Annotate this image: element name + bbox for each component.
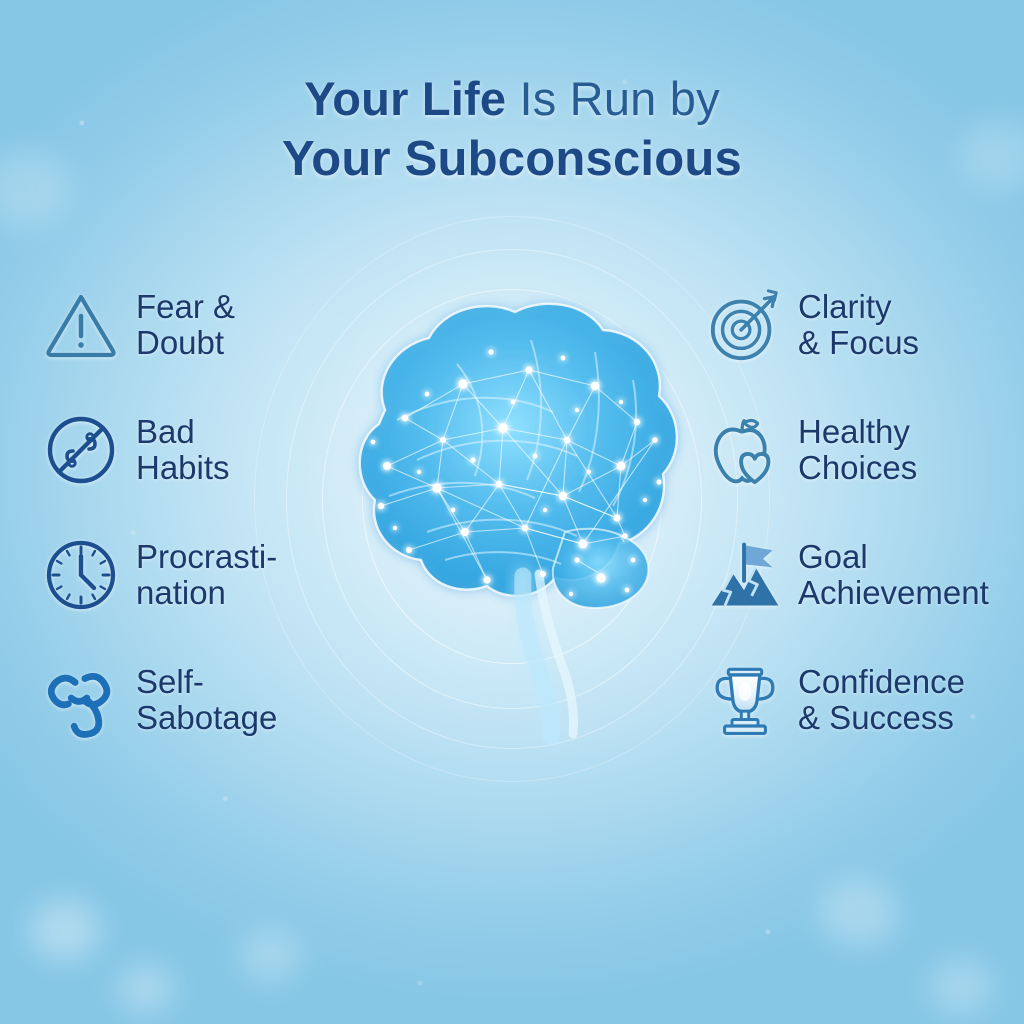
bokeh-spot (118, 965, 173, 1013)
negative-traits-column: Fear & Doubt Bad Habits (42, 262, 372, 762)
apple-heart-icon (706, 411, 784, 489)
list-item-clarity-focus[interactable]: Clarity & Focus (706, 262, 1024, 387)
mountain-flag-icon (706, 536, 784, 614)
title-line-2: Your Subconscious (0, 132, 1024, 188)
title-bold-segment: Your Life (304, 72, 506, 125)
title-light-segment: Is Run by (506, 72, 720, 125)
target-arrow-icon (706, 286, 784, 364)
infographic-poster: Your Life Is Run by Your Subconscious (0, 0, 1024, 1024)
bokeh-spot (30, 900, 100, 960)
warning-triangle-icon (42, 286, 120, 364)
list-item-fear-doubt[interactable]: Fear & Doubt (42, 262, 372, 387)
no-smoking-prohibition-icon (42, 411, 120, 489)
title-line-1: Your Life Is Run by (0, 72, 1024, 126)
list-item-self-sabotage[interactable]: Self- Sabotage (42, 637, 372, 762)
list-item-confidence-success[interactable]: Confidence & Success (706, 637, 1024, 762)
list-item-healthy-choices[interactable]: Healthy Choices (706, 387, 1024, 512)
clock-icon (42, 536, 120, 614)
broken-chain-icon (42, 661, 120, 739)
positive-outcomes-column: Clarity & Focus Healthy Choices (706, 262, 1024, 762)
list-item-goal-achievement[interactable]: Goal Achievement (706, 512, 1024, 637)
list-item-procrastination[interactable]: Procrasti- nation (42, 512, 372, 637)
bokeh-spot (930, 960, 992, 1014)
poster-title: Your Life Is Run by Your Subconscious (0, 72, 1024, 187)
list-item-label: Healthy Choices (798, 414, 917, 485)
list-item-label: Self- Sabotage (136, 664, 277, 735)
list-item-label: Goal Achievement (798, 539, 989, 610)
list-item-label: Clarity & Focus (798, 289, 919, 360)
list-item-label: Confidence & Success (798, 664, 965, 735)
list-item-label: Fear & Doubt (136, 289, 235, 360)
list-item-label: Procrasti- nation (136, 539, 277, 610)
bokeh-spot (240, 930, 300, 982)
bokeh-spot (820, 880, 898, 946)
trophy-icon (706, 661, 784, 739)
list-item-bad-habits[interactable]: Bad Habits (42, 387, 372, 512)
list-item-label: Bad Habits (136, 414, 230, 485)
